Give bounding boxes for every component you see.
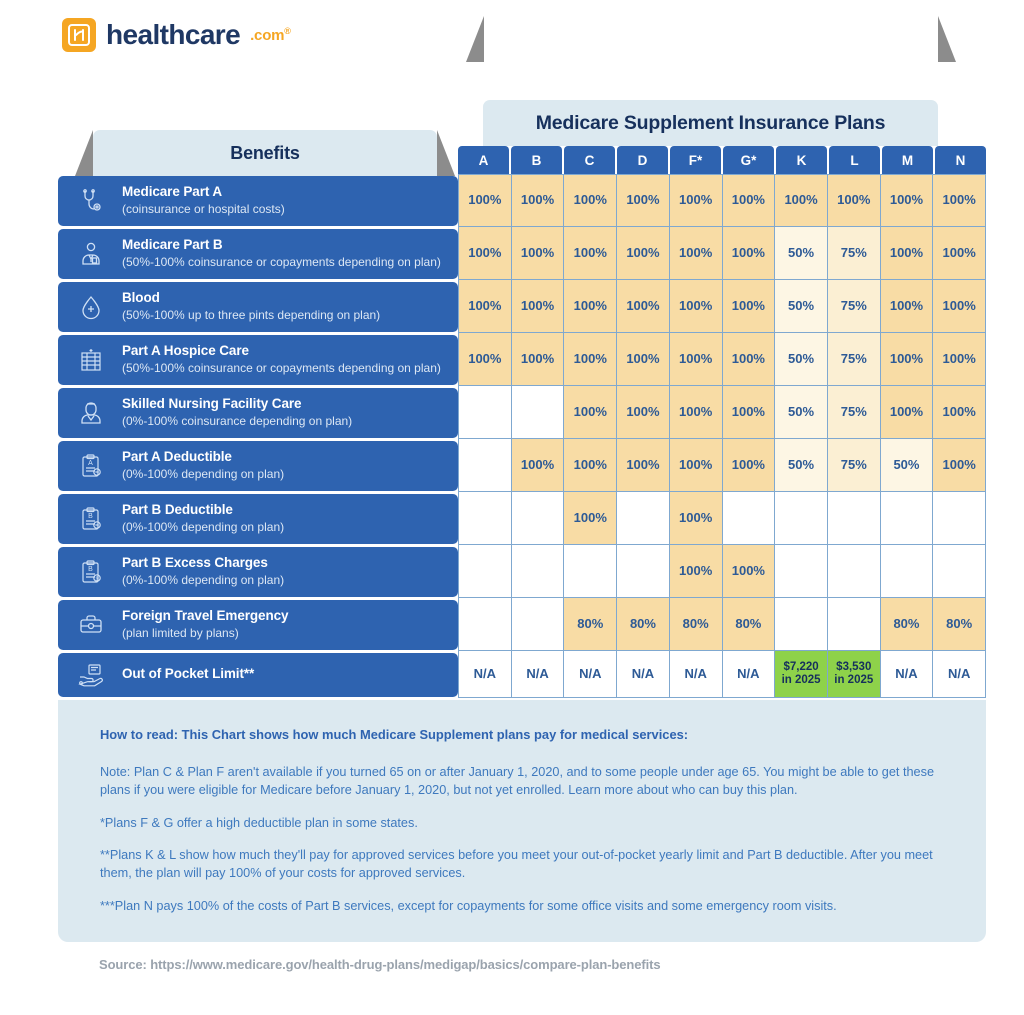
value-text: 100% xyxy=(574,458,607,473)
value-cell: 80% xyxy=(881,598,934,651)
plans-banner-fold-left xyxy=(466,16,484,62)
value-text: 100% xyxy=(626,246,659,261)
benefit-subtitle: (0%-100% depending on plan) xyxy=(122,520,284,536)
benefit-title: Part B Excess Charges xyxy=(122,555,284,572)
value-cell xyxy=(723,492,776,545)
value-cell: 75% xyxy=(828,386,881,439)
table-row: Medicare Part B(50%-100% coinsurance or … xyxy=(58,227,986,280)
value-cell xyxy=(933,492,986,545)
value-text: 100% xyxy=(626,405,659,420)
value-cell: 100% xyxy=(512,174,565,227)
value-cell: 100% xyxy=(828,174,881,227)
value-text: in 2025 xyxy=(782,674,821,687)
benefits-banner: Benefits xyxy=(93,130,437,176)
benefit-text-wrap: Skilled Nursing Facility Care(0%-100% co… xyxy=(122,396,352,429)
value-cell: 100% xyxy=(564,227,617,280)
plans-banner-label: Medicare Supplement Insurance Plans xyxy=(536,112,886,135)
value-cell xyxy=(775,492,828,545)
briefcase-icon xyxy=(74,612,108,638)
benefit-text-wrap: Part A Hospice Care(50%-100% coinsurance… xyxy=(122,343,441,376)
value-cell: 75% xyxy=(828,280,881,333)
value-cell: 100% xyxy=(670,545,723,598)
benefit-title: Medicare Part A xyxy=(122,184,285,201)
value-cell: 75% xyxy=(828,439,881,492)
value-cell: N/A xyxy=(458,651,512,698)
table-row: BPart B Deductible(0%-100% depending on … xyxy=(58,492,986,545)
value-text: 80% xyxy=(946,617,972,632)
value-cell: 100% xyxy=(458,227,512,280)
svg-text:$: $ xyxy=(96,576,99,582)
value-cell: 100% xyxy=(881,333,934,386)
value-text: N/A xyxy=(632,667,654,682)
value-cell: 80% xyxy=(723,598,776,651)
benefit-subtitle: (50%-100% coinsurance or copayments depe… xyxy=(122,255,441,271)
value-cell xyxy=(512,492,565,545)
value-text: 100% xyxy=(943,299,976,314)
value-cell: 100% xyxy=(670,439,723,492)
value-text: 100% xyxy=(521,193,554,208)
value-text: 100% xyxy=(943,352,976,367)
value-cell xyxy=(564,545,617,598)
value-text: 100% xyxy=(468,193,501,208)
benefits-banner-label: Benefits xyxy=(230,143,299,164)
value-cell: 100% xyxy=(512,439,565,492)
value-cell: 50% xyxy=(775,227,828,280)
value-text: 100% xyxy=(679,246,712,261)
value-cell: 75% xyxy=(828,333,881,386)
value-cell xyxy=(458,386,512,439)
value-text: 80% xyxy=(630,617,656,632)
value-text: 100% xyxy=(890,193,923,208)
benefit-label-cell: Out of Pocket Limit** xyxy=(58,653,458,697)
value-text: 100% xyxy=(574,405,607,420)
value-text: 100% xyxy=(679,458,712,473)
value-cell xyxy=(828,545,881,598)
benefit-subtitle: (50%-100% coinsurance or copayments depe… xyxy=(122,361,441,377)
value-cell xyxy=(933,545,986,598)
value-cell: N/A xyxy=(617,651,670,698)
value-cells: 100%100%100%100%100%100%50%75%100%100% xyxy=(458,333,986,386)
plan-column-header-f: F* xyxy=(670,146,721,174)
value-cell: 100% xyxy=(933,227,986,280)
value-cell: 100% xyxy=(564,333,617,386)
benefit-title: Blood xyxy=(122,290,380,307)
value-cell: 100% xyxy=(933,280,986,333)
value-text: 100% xyxy=(679,405,712,420)
how-to-read-card: How to read: This Chart shows how much M… xyxy=(58,700,986,942)
value-text: 100% xyxy=(679,299,712,314)
plans-banner-fold-right xyxy=(938,16,956,62)
value-cell: 50% xyxy=(775,386,828,439)
value-cell: 100% xyxy=(617,280,670,333)
value-text: 75% xyxy=(841,299,867,314)
value-cell: 100% xyxy=(458,333,512,386)
benefit-label-cell: Skilled Nursing Facility Care(0%-100% co… xyxy=(58,388,458,438)
value-text: 100% xyxy=(732,352,765,367)
table-row: Medicare Part A(coinsurance or hospital … xyxy=(58,174,986,227)
infographic-page: healthcare .com® Benefits Medicare Suppl… xyxy=(0,0,1024,1015)
value-cell: 100% xyxy=(670,386,723,439)
blood-drop-icon xyxy=(74,294,108,320)
how-to-read-lead: How to read: This Chart shows how much M… xyxy=(100,726,952,745)
value-cell xyxy=(617,492,670,545)
value-text: 50% xyxy=(788,352,814,367)
value-text: 75% xyxy=(841,458,867,473)
value-text: 50% xyxy=(788,405,814,420)
value-text: 100% xyxy=(626,352,659,367)
benefit-label-cell: Medicare Part B(50%-100% coinsurance or … xyxy=(58,229,458,279)
value-cell: 100% xyxy=(564,492,617,545)
value-cell: 100% xyxy=(670,227,723,280)
value-cell: 75% xyxy=(828,227,881,280)
benefit-subtitle: (coinsurance or hospital costs) xyxy=(122,202,285,218)
value-cell: 100% xyxy=(723,386,776,439)
value-cell xyxy=(512,545,565,598)
value-text: 100% xyxy=(679,352,712,367)
value-text: 100% xyxy=(943,193,976,208)
benefit-subtitle: (50%-100% up to three pints depending on… xyxy=(122,308,380,324)
value-text: 100% xyxy=(943,246,976,261)
value-text: 100% xyxy=(732,405,765,420)
hospital-building-icon xyxy=(74,347,108,373)
benefit-text-wrap: Medicare Part A(coinsurance or hospital … xyxy=(122,184,285,217)
hand-money-icon xyxy=(74,662,108,688)
table-row: B$Part B Excess Charges(0%-100% dependin… xyxy=(58,545,986,598)
benefits-table: Medicare Part A(coinsurance or hospital … xyxy=(58,174,986,698)
value-text: 100% xyxy=(732,299,765,314)
value-text: 100% xyxy=(574,299,607,314)
value-cell: 100% xyxy=(512,333,565,386)
value-cell: 100% xyxy=(933,333,986,386)
value-text: 100% xyxy=(468,299,501,314)
value-cell: 100% xyxy=(775,174,828,227)
value-cell: 100% xyxy=(723,439,776,492)
value-text: 100% xyxy=(890,352,923,367)
benefit-subtitle: (0%-100% coinsurance depending on plan) xyxy=(122,414,352,430)
benefit-label-cell: APart A Deductible(0%-100% depending on … xyxy=(58,441,458,491)
benefit-label-cell: Part A Hospice Care(50%-100% coinsurance… xyxy=(58,335,458,385)
value-cell: 100% xyxy=(881,174,934,227)
benefit-label-cell: B$Part B Excess Charges(0%-100% dependin… xyxy=(58,547,458,597)
clipboard-a-icon: A xyxy=(74,453,108,479)
value-text: 100% xyxy=(626,299,659,314)
value-cells: 100%100%100%100%100%50%75%50%100% xyxy=(458,439,986,492)
value-cell: 100% xyxy=(723,333,776,386)
benefits-banner-fold-left xyxy=(75,130,93,176)
value-text: 100% xyxy=(732,246,765,261)
footnote-high-deductible: *Plans F & G offer a high deductible pla… xyxy=(100,814,952,832)
value-text: in 2025 xyxy=(834,674,873,687)
value-cell: 100% xyxy=(564,280,617,333)
value-text: N/A xyxy=(579,667,601,682)
value-cell: 100% xyxy=(881,280,934,333)
value-cells: 100%100% xyxy=(458,545,986,598)
value-text: 50% xyxy=(788,299,814,314)
value-cell: N/A xyxy=(670,651,723,698)
value-text: 100% xyxy=(732,458,765,473)
benefit-title: Medicare Part B xyxy=(122,237,441,254)
value-text: 80% xyxy=(577,617,603,632)
plans-banner: Medicare Supplement Insurance Plans xyxy=(483,100,938,146)
value-text: N/A xyxy=(474,667,496,682)
value-cell: 50% xyxy=(881,439,934,492)
table-row: Foreign Travel Emergency(plan limited by… xyxy=(58,598,986,651)
value-cell: 100% xyxy=(933,174,986,227)
value-cells: 100%100%100%100%100%100%50%75%100%100% xyxy=(458,280,986,333)
value-cell xyxy=(617,545,670,598)
plan-column-header-l: L xyxy=(829,146,880,174)
value-text: 100% xyxy=(837,193,870,208)
value-text: 100% xyxy=(732,564,765,579)
value-text: 100% xyxy=(468,246,501,261)
plan-column-header-c: C xyxy=(564,146,615,174)
nurse-icon xyxy=(74,400,108,426)
value-cell: 50% xyxy=(775,333,828,386)
value-cell: 80% xyxy=(564,598,617,651)
value-text: 100% xyxy=(574,193,607,208)
value-text: N/A xyxy=(526,667,548,682)
value-text: 80% xyxy=(893,617,919,632)
value-cell: N/A xyxy=(933,651,986,698)
value-cell: 100% xyxy=(723,280,776,333)
benefit-title: Part A Deductible xyxy=(122,449,284,466)
value-cell: 100% xyxy=(617,439,670,492)
value-text: 75% xyxy=(841,246,867,261)
value-cell: 100% xyxy=(564,439,617,492)
value-text: 100% xyxy=(943,458,976,473)
value-text: 100% xyxy=(574,246,607,261)
svg-text:A: A xyxy=(88,460,93,467)
value-cell: 100% xyxy=(670,280,723,333)
value-cell xyxy=(512,598,565,651)
value-cell: $7,220in 2025 xyxy=(775,651,828,698)
value-text: N/A xyxy=(948,667,970,682)
value-text: 100% xyxy=(732,193,765,208)
value-text: 50% xyxy=(788,458,814,473)
value-text: 100% xyxy=(521,352,554,367)
benefit-label-cell: Medicare Part A(coinsurance or hospital … xyxy=(58,176,458,226)
value-cell xyxy=(458,439,512,492)
value-cell: N/A xyxy=(881,651,934,698)
value-text: 100% xyxy=(890,405,923,420)
table-row: Part A Hospice Care(50%-100% coinsurance… xyxy=(58,333,986,386)
healthcare-h-icon xyxy=(62,18,96,52)
value-cell: $3,530in 2025 xyxy=(828,651,881,698)
benefit-subtitle: (plan limited by plans) xyxy=(122,626,288,642)
benefit-title: Foreign Travel Emergency xyxy=(122,608,288,625)
value-cells: 80%80%80%80%80%80% xyxy=(458,598,986,651)
value-cell xyxy=(458,598,512,651)
value-text: 100% xyxy=(784,193,817,208)
benefit-text-wrap: Out of Pocket Limit** xyxy=(122,666,254,683)
value-cell: N/A xyxy=(564,651,617,698)
value-cell: 100% xyxy=(617,174,670,227)
footnote-plan-n: ***Plan N pays 100% of the costs of Part… xyxy=(100,897,952,915)
plan-column-header-d: D xyxy=(617,146,668,174)
benefit-text-wrap: Blood(50%-100% up to three pints dependi… xyxy=(122,290,380,323)
value-cell: 80% xyxy=(933,598,986,651)
benefit-text-wrap: Foreign Travel Emergency(plan limited by… xyxy=(122,608,288,641)
value-text: 75% xyxy=(841,405,867,420)
value-cell: 100% xyxy=(723,227,776,280)
value-cell xyxy=(512,386,565,439)
benefit-title: Skilled Nursing Facility Care xyxy=(122,396,352,413)
table-row: Skilled Nursing Facility Care(0%-100% co… xyxy=(58,386,986,439)
value-text: 75% xyxy=(841,352,867,367)
value-cell xyxy=(828,492,881,545)
value-text: 80% xyxy=(735,617,761,632)
value-text: 100% xyxy=(679,193,712,208)
value-cell: 100% xyxy=(512,280,565,333)
value-cell: N/A xyxy=(723,651,776,698)
value-cell: 100% xyxy=(458,174,512,227)
value-cell: 100% xyxy=(617,386,670,439)
plan-column-header-row: ABCDF*G*KLMN xyxy=(458,146,986,174)
value-text: 100% xyxy=(521,246,554,261)
plan-column-header-g: G* xyxy=(723,146,774,174)
value-cell: 100% xyxy=(617,227,670,280)
value-cell: 100% xyxy=(617,333,670,386)
table-row: Out of Pocket Limit**N/AN/AN/AN/AN/AN/A$… xyxy=(58,651,986,698)
benefit-text-wrap: Medicare Part B(50%-100% coinsurance or … xyxy=(122,237,441,270)
value-cell: N/A xyxy=(512,651,565,698)
value-cell: 100% xyxy=(670,174,723,227)
value-text: $7,220 xyxy=(783,661,818,674)
logo-suffix: .com® xyxy=(250,26,291,44)
value-cell xyxy=(775,598,828,651)
plan-column-header-a: A xyxy=(458,146,509,174)
value-cell: 100% xyxy=(723,545,776,598)
table-row: Blood(50%-100% up to three pints dependi… xyxy=(58,280,986,333)
value-cell: 100% xyxy=(512,227,565,280)
value-cell: 100% xyxy=(670,333,723,386)
value-text: 100% xyxy=(943,405,976,420)
value-text: $3,530 xyxy=(836,661,871,674)
value-text: N/A xyxy=(684,667,706,682)
value-text: 50% xyxy=(893,458,919,473)
benefit-title: Out of Pocket Limit** xyxy=(122,666,254,683)
plan-column-header-m: M xyxy=(882,146,933,174)
value-text: 100% xyxy=(890,299,923,314)
value-text: 100% xyxy=(626,458,659,473)
value-cell xyxy=(881,545,934,598)
value-text: 80% xyxy=(683,617,709,632)
plan-column-header-k: K xyxy=(776,146,827,174)
benefits-banner-fold-right xyxy=(437,130,455,176)
benefit-text-wrap: Part B Excess Charges(0%-100% depending … xyxy=(122,555,284,588)
value-cell: 100% xyxy=(723,174,776,227)
value-cells: 100%100% xyxy=(458,492,986,545)
source-citation: Source: https://www.medicare.gov/health-… xyxy=(99,957,660,972)
benefit-label-cell: Blood(50%-100% up to three pints dependi… xyxy=(58,282,458,332)
footnote-k-l-plans: **Plans K & L show how much they'll pay … xyxy=(100,846,952,883)
value-cell: 100% xyxy=(670,492,723,545)
benefit-label-cell: Foreign Travel Emergency(plan limited by… xyxy=(58,600,458,650)
plan-column-header-b: B xyxy=(511,146,562,174)
plan-column-header-n: N xyxy=(935,146,986,174)
table-row: APart A Deductible(0%-100% depending on … xyxy=(58,439,986,492)
value-cell xyxy=(458,492,512,545)
doctor-icon xyxy=(74,241,108,267)
value-cells: 100%100%100%100%50%75%100%100% xyxy=(458,386,986,439)
benefit-title: Part B Deductible xyxy=(122,502,284,519)
value-cell: 100% xyxy=(564,174,617,227)
value-cell: 80% xyxy=(617,598,670,651)
value-text: 100% xyxy=(626,193,659,208)
value-cell: 100% xyxy=(933,439,986,492)
value-text: 100% xyxy=(679,564,712,579)
value-cells: N/AN/AN/AN/AN/AN/A$7,220in 2025$3,530in … xyxy=(458,651,986,698)
value-text: 100% xyxy=(574,511,607,526)
plan-availability-note: Note: Plan C & Plan F aren't available i… xyxy=(100,763,952,800)
benefit-text-wrap: Part B Deductible(0%-100% depending on p… xyxy=(122,502,284,535)
benefit-subtitle: (0%-100% depending on plan) xyxy=(122,573,284,589)
benefit-title: Part A Hospice Care xyxy=(122,343,441,360)
value-cell: 50% xyxy=(775,280,828,333)
logo-wordmark: healthcare xyxy=(106,19,240,51)
value-cells: 100%100%100%100%100%100%50%75%100%100% xyxy=(458,227,986,280)
benefit-subtitle: (0%-100% depending on plan) xyxy=(122,467,284,483)
clipboard-b-icon: B xyxy=(74,506,108,532)
stethoscope-icon xyxy=(74,188,108,214)
value-cell: 80% xyxy=(670,598,723,651)
value-cell: 100% xyxy=(881,227,934,280)
svg-text:B: B xyxy=(88,513,93,520)
value-text: 100% xyxy=(468,352,501,367)
benefit-label-cell: BPart B Deductible(0%-100% depending on … xyxy=(58,494,458,544)
value-text: 100% xyxy=(574,352,607,367)
brand-logo: healthcare .com® xyxy=(62,18,291,52)
clipboard-b-dollar-icon: B$ xyxy=(74,559,108,585)
value-cell: 100% xyxy=(458,280,512,333)
svg-text:B: B xyxy=(88,566,93,573)
value-text: 100% xyxy=(521,299,554,314)
value-cell: 100% xyxy=(564,386,617,439)
value-cell xyxy=(458,545,512,598)
value-text: 100% xyxy=(679,511,712,526)
value-cell xyxy=(828,598,881,651)
value-text: 100% xyxy=(521,458,554,473)
value-cell xyxy=(881,492,934,545)
value-cell: 100% xyxy=(881,386,934,439)
value-text: 50% xyxy=(788,246,814,261)
value-cell: 50% xyxy=(775,439,828,492)
value-text: 100% xyxy=(890,246,923,261)
value-cell: 100% xyxy=(933,386,986,439)
value-cell xyxy=(775,545,828,598)
value-cells: 100%100%100%100%100%100%100%100%100%100% xyxy=(458,174,986,227)
value-text: N/A xyxy=(737,667,759,682)
benefit-text-wrap: Part A Deductible(0%-100% depending on p… xyxy=(122,449,284,482)
value-text: N/A xyxy=(895,667,917,682)
